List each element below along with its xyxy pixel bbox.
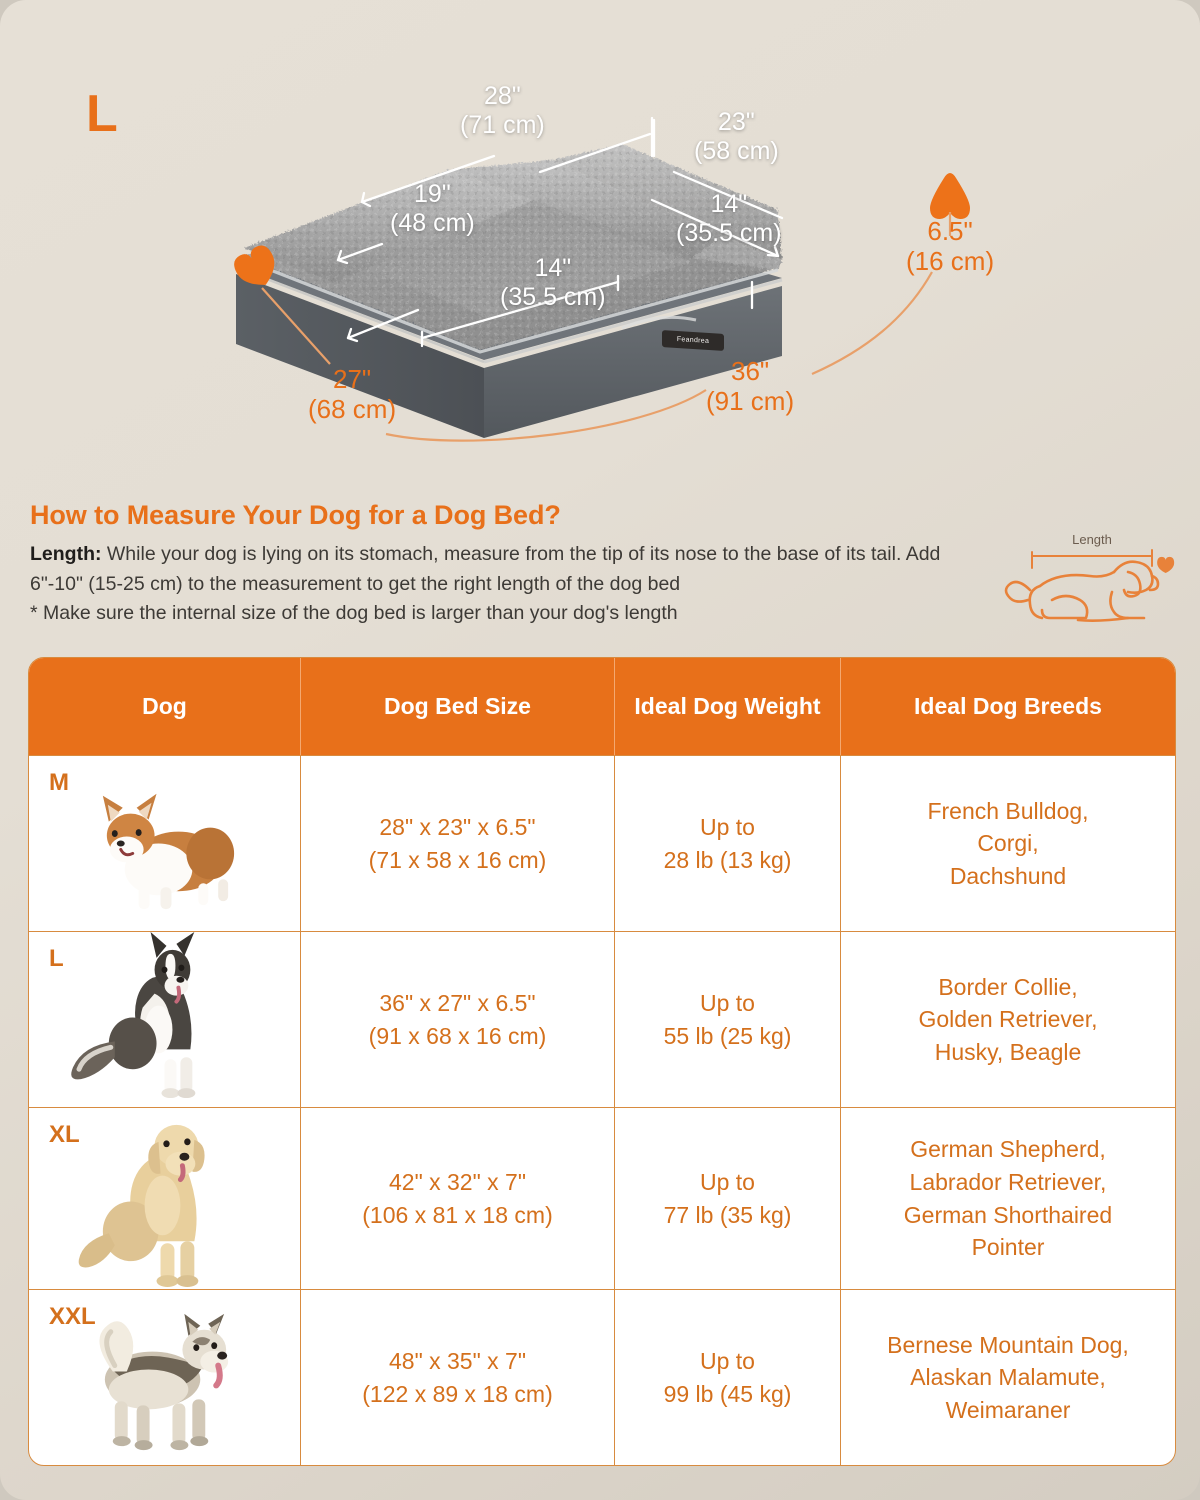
table-row: L	[29, 931, 1175, 1107]
cell-breeds-m: French Bulldog, Corgi, Dachshund	[841, 755, 1175, 931]
dog-photo-malamute	[29, 1290, 300, 1465]
cell-bed-size-m: 28" x 23" x 6.5" (71 x 58 x 16 cm)	[301, 755, 615, 931]
cell-dog-xl: XL	[29, 1107, 301, 1289]
table-row: M	[29, 755, 1175, 931]
cell-weight-l: Up to 55 lb (25 kg)	[615, 931, 841, 1107]
cell-dog-m: M	[29, 755, 301, 931]
cell-bed-size-xxl: 48" x 35" x 7" (122 x 89 x 18 cm)	[301, 1289, 615, 1465]
infographic-page: L	[0, 0, 1200, 1500]
measure-length-label: Length:	[30, 543, 101, 565]
cell-dog-xxl: XXL	[29, 1289, 301, 1465]
measure-heading: How to Measure Your Dog for a Dog Bed?	[30, 500, 561, 531]
measure-paragraph: Length: While your dog is lying on its s…	[30, 540, 980, 599]
cell-bed-size-xl: 42" x 32" x 7" (106 x 81 x 18 cm)	[301, 1107, 615, 1289]
dog-photo-border-collie	[29, 932, 300, 1107]
dog-diagram-label: Length	[1072, 532, 1112, 547]
table-header: Dog Dog Bed Size Ideal Dog Weight Ideal …	[29, 658, 1175, 755]
dog-length-diagram: Length	[1000, 528, 1185, 646]
measure-line1: While your dog is lying on its stomach, …	[30, 543, 940, 595]
table-row: XL	[29, 1107, 1175, 1289]
col-header-weight: Ideal Dog Weight	[615, 658, 841, 755]
dim-depth: 27" (68 cm)	[308, 364, 396, 424]
cell-bed-size-l: 36" x 27" x 6.5" (91 x 68 x 16 cm)	[301, 931, 615, 1107]
table-header-row: Dog Dog Bed Size Ideal Dog Weight Ideal …	[29, 658, 1175, 755]
cell-breeds-xxl: Bernese Mountain Dog, Alaskan Malamute, …	[841, 1289, 1175, 1465]
size-chart-table: Dog Dog Bed Size Ideal Dog Weight Ideal …	[28, 657, 1176, 1466]
heart-marker-left	[230, 242, 283, 294]
col-header-bed-size: Dog Bed Size	[301, 658, 615, 755]
table-body: M	[29, 755, 1175, 1465]
cell-weight-xl: Up to 77 lb (35 kg)	[615, 1107, 841, 1289]
dim-width: 36" (91 cm)	[706, 356, 794, 416]
dog-photo-corgi	[29, 756, 300, 931]
dim-height: 6.5" (16 cm)	[906, 216, 994, 276]
col-header-dog: Dog	[29, 658, 301, 755]
cell-weight-xxl: Up to 99 lb (45 kg)	[615, 1289, 841, 1465]
cell-breeds-l: Border Collie, Golden Retriever, Husky, …	[841, 931, 1175, 1107]
hero-section: L	[0, 0, 1200, 490]
measure-line2: * Make sure the internal size of the dog…	[30, 599, 980, 629]
table-row: XXL	[29, 1289, 1175, 1465]
cell-dog-l: L	[29, 931, 301, 1107]
col-header-breeds: Ideal Dog Breeds	[841, 658, 1175, 755]
heart-icon	[1157, 557, 1174, 573]
hero-callout-lines	[0, 0, 1200, 490]
dog-photo-labrador	[29, 1108, 300, 1289]
cell-breeds-xl: German Shepherd, Labrador Retriever, Ger…	[841, 1107, 1175, 1289]
cell-weight-m: Up to 28 lb (13 kg)	[615, 755, 841, 931]
measure-body: Length: While your dog is lying on its s…	[30, 540, 980, 629]
